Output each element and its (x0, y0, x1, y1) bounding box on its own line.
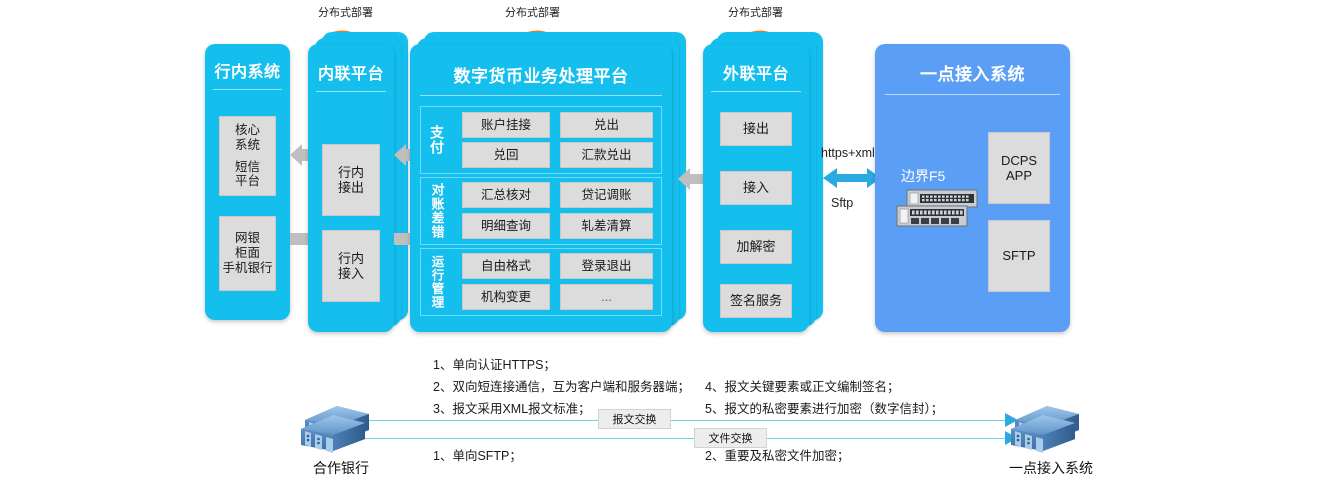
item-detail-query[interactable]: 明细查询 (462, 213, 550, 239)
panel-dcep-platform: 数字货币业务处理平台 支付 账户挂接 兑出 兑回 汇款兑出 对账差错 汇总核对 … (410, 32, 700, 332)
network-switch-icon (897, 190, 979, 230)
server-icon-single-access (1005, 400, 1097, 455)
panel-bank-internal: 行内系统 核心 系统 短信 平台 网银 柜面 手机银行 (205, 44, 290, 320)
panel-single-access-system: 一点接入系统 边界F5 (875, 44, 1070, 332)
note-right-5: 5、报文的私密要素进行加密（数字信封）； (705, 398, 943, 417)
box-encrypt-decrypt[interactable]: 加解密 (720, 230, 792, 264)
item-more[interactable]: ... (560, 284, 653, 310)
server-label-single-access: 一点接入系统 (996, 458, 1106, 478)
exchange-label-message: 报文交换 (598, 409, 671, 429)
box-line: 柜面 (235, 246, 260, 261)
box-line: 平台 (235, 174, 260, 189)
item-account-link[interactable]: 账户挂接 (462, 112, 550, 138)
box-line: 核心 (235, 123, 260, 138)
item-remittance-out[interactable]: 汇款兑出 (560, 142, 653, 168)
box-line: 短信 (235, 160, 260, 175)
item-exchange-out[interactable]: 兑出 (560, 112, 653, 138)
item-exchange-back[interactable]: 兑回 (462, 142, 550, 168)
note-left-3: 3、报文采用XML报文标准； (433, 398, 591, 417)
item-summary-check[interactable]: 汇总核对 (462, 182, 550, 208)
box-intranet-out[interactable]: 行内 接出 (322, 144, 380, 216)
box-intranet-in[interactable]: 行内 接入 (322, 230, 380, 302)
panel-external-platform: 外联平台 接出 接入 加解密 签名服务 (703, 32, 823, 332)
item-netting-settle[interactable]: 轧差清算 (560, 213, 653, 239)
box-sftp[interactable]: SFTP (988, 220, 1050, 292)
link-label-https-xml: https+xml (821, 146, 875, 160)
panel-title-dcep: 数字货币业务处理平台 (410, 62, 672, 87)
item-org-change[interactable]: 机构变更 (462, 284, 550, 310)
group-label-operations: 运行管理 (424, 250, 450, 314)
panel-title-bank-internal: 行内系统 (205, 58, 290, 82)
f5-label: 边界F5 (901, 166, 945, 186)
box-dcps-app[interactable]: DCPS APP (988, 132, 1050, 204)
panel-title-intranet: 内联平台 (308, 60, 394, 84)
connector-line-file (355, 438, 1015, 439)
box-line: 网银 (235, 231, 260, 246)
box-ebank-counter-mobile[interactable]: 网银 柜面 手机银行 (219, 216, 276, 291)
group-label-payment: 支付 (424, 110, 450, 170)
note-left-1: 1、单向认证HTTPS； (433, 354, 556, 373)
item-credit-adjust[interactable]: 贷记调账 (560, 182, 653, 208)
item-login-logout[interactable]: 登录退出 (560, 253, 653, 279)
panel-title-external: 外联平台 (703, 60, 809, 84)
box-core-system[interactable]: 核心 系统 短信 平台 (219, 116, 276, 196)
note-bottom-left: 1、单向SFTP； (433, 445, 522, 464)
server-icon-partner-bank (295, 400, 387, 455)
link-arrow-bidirectional (823, 166, 881, 190)
box-line: 系统 (235, 138, 260, 153)
link-label-sftp: Sftp (831, 196, 853, 210)
note-right-4: 4、报文关键要素或正文编制签名； (705, 376, 899, 395)
item-free-format[interactable]: 自由格式 (462, 253, 550, 279)
exchange-label-file: 文件交换 (694, 428, 767, 448)
box-line: APP (1006, 168, 1032, 183)
box-signature-service[interactable]: 签名服务 (720, 284, 792, 318)
box-external-out[interactable]: 接出 (720, 112, 792, 146)
box-line: 手机银行 (222, 261, 272, 276)
box-line: 行内 (338, 165, 364, 180)
panel-intranet-platform: 内联平台 行内 接出 行内 接入 (308, 32, 408, 332)
connector-line-message (355, 420, 1015, 421)
diagram-canvas: 分布式部署 分布式部署 分布式部署 行内系统 核心 系统 短信 平台 网银 柜面… (0, 0, 1333, 483)
group-label-reconciliation: 对账差错 (424, 180, 450, 242)
box-line: 接出 (338, 180, 364, 195)
box-external-in[interactable]: 接入 (720, 171, 792, 205)
note-left-2: 2、双向短连接通信，互为客户端和服务器端； (433, 376, 690, 395)
box-line: 接入 (338, 266, 364, 281)
box-line: DCPS (1001, 153, 1037, 168)
box-line: 行内 (338, 251, 364, 266)
server-label-partner-bank: 合作银行 (295, 458, 387, 478)
panel-title-single-access: 一点接入系统 (875, 60, 1070, 85)
